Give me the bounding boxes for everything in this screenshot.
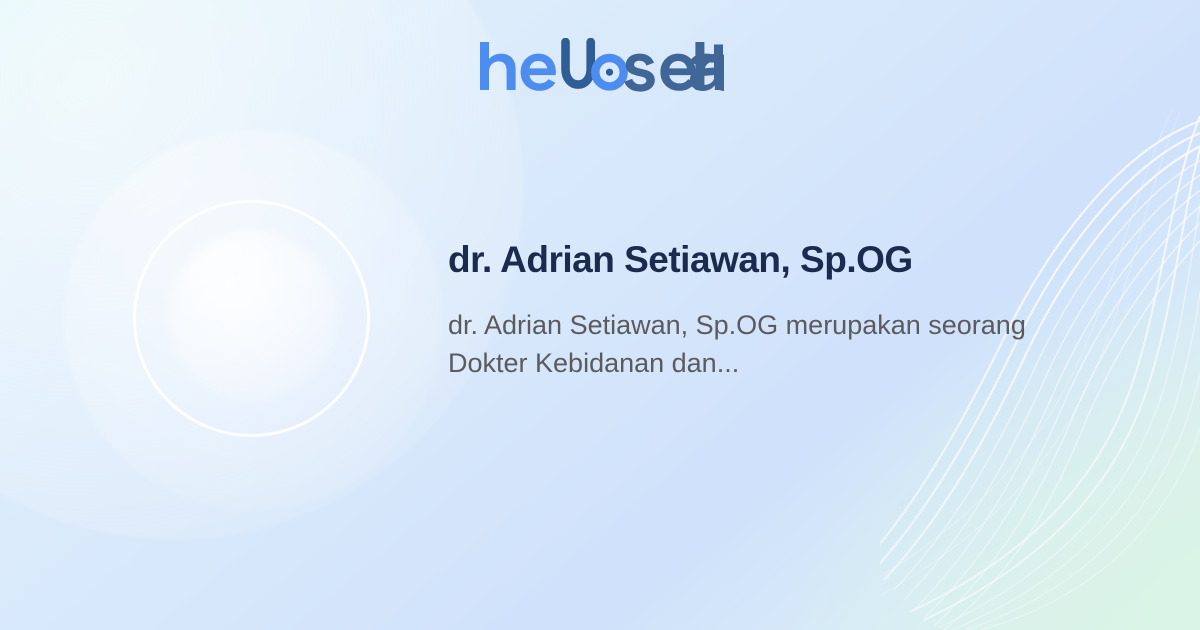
soft-circle-mid xyxy=(63,130,443,510)
content-block: dr. Adrian Setiawan, Sp.OG dr. Adrian Se… xyxy=(448,238,1048,382)
page-description: dr. Adrian Setiawan, Sp.OG merupakan seo… xyxy=(448,306,1033,383)
page-title: dr. Adrian Setiawan, Sp.OG xyxy=(448,238,1048,282)
white-ring-circle xyxy=(133,200,370,437)
hellosehat-logo[interactable] xyxy=(0,38,1200,100)
og-share-card: dr. Adrian Setiawan, Sp.OG dr. Adrian Se… xyxy=(0,0,1200,630)
hellosehat-logo-icon xyxy=(476,38,724,100)
soft-circle-inner-glow xyxy=(168,231,338,401)
